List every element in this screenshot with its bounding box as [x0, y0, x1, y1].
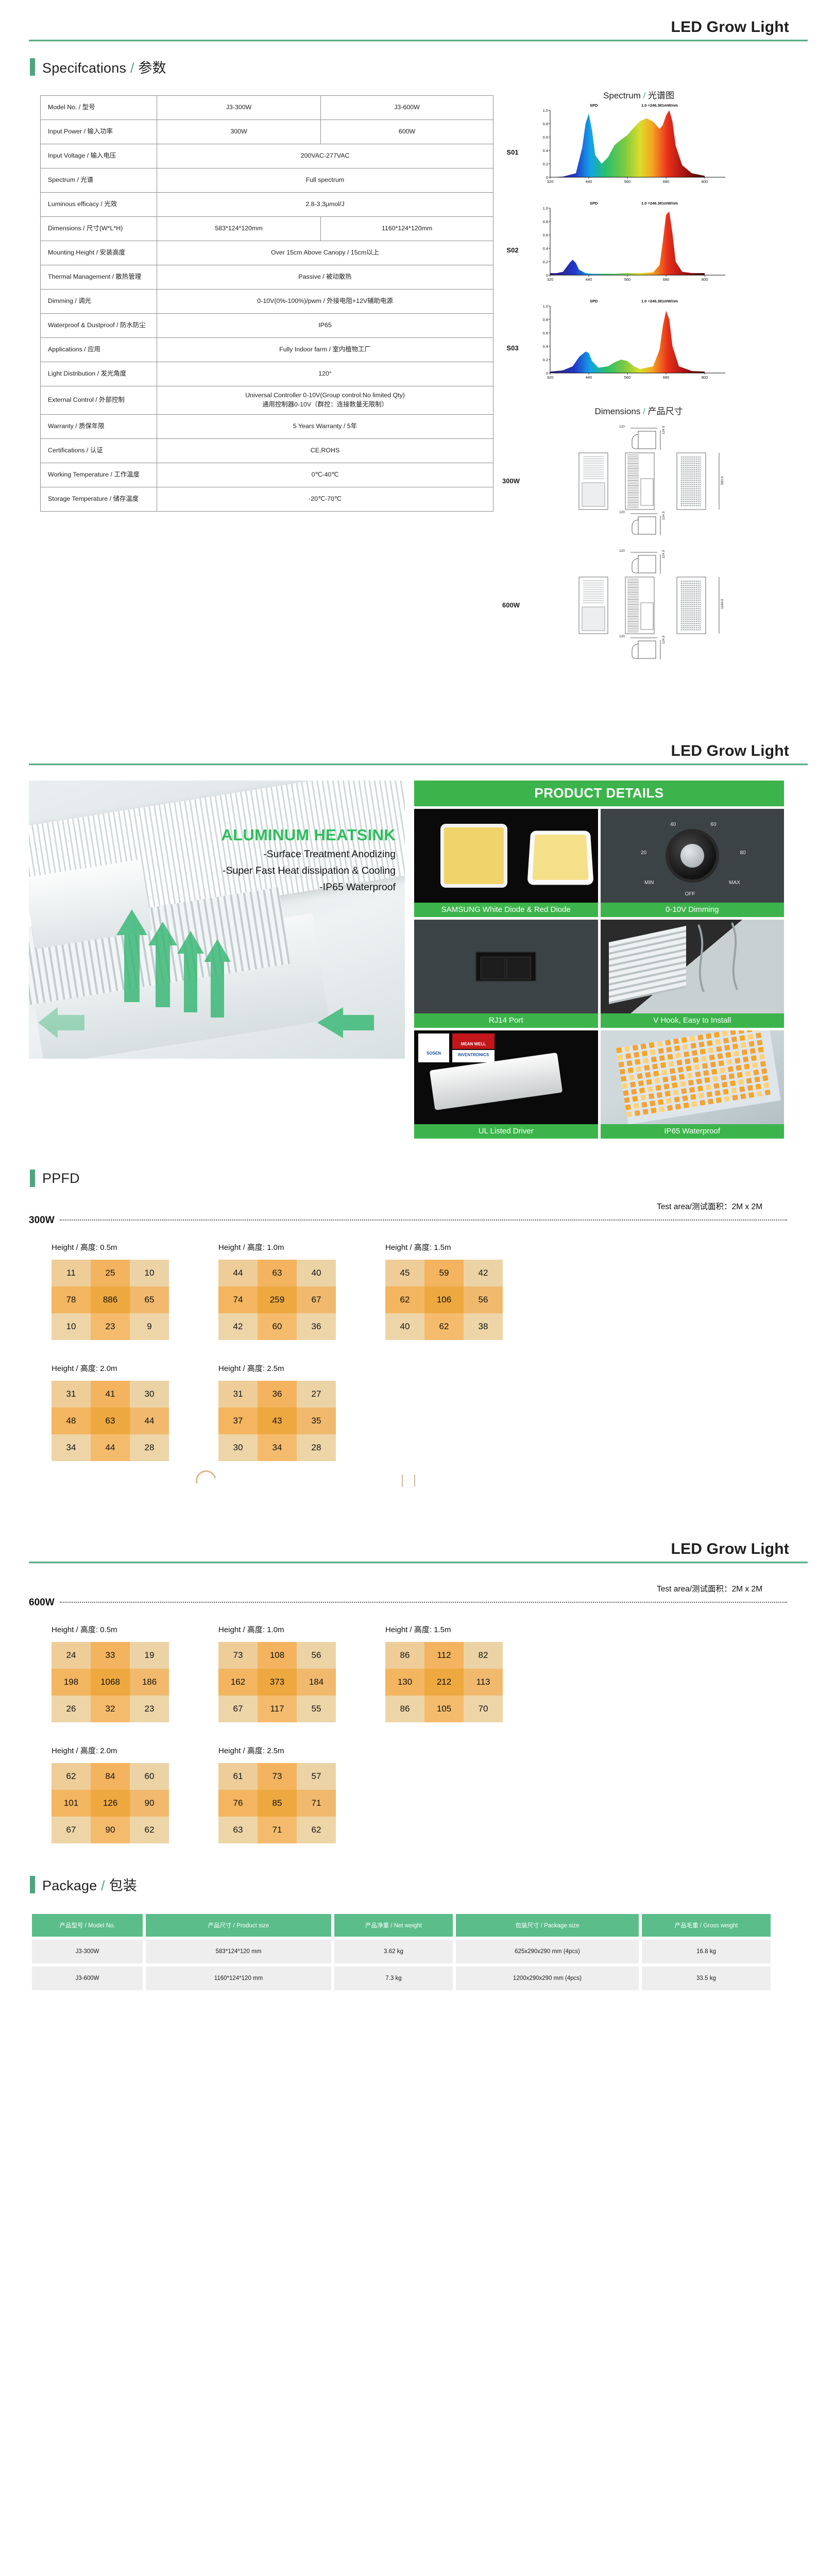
ppfd-cell: 28: [130, 1434, 169, 1461]
ppfd-heatmap-row: 446340: [218, 1260, 336, 1286]
ppfd-cell: 62: [424, 1313, 464, 1340]
led-dot: [659, 1055, 664, 1061]
spec-value: 200VAC-277VAC: [157, 144, 493, 168]
ppfd-cell: 70: [464, 1696, 503, 1722]
ppfd-cell: 67: [297, 1286, 336, 1313]
svg-text:1.0: 1.0: [543, 304, 548, 309]
spec-label: Dimming / 调光: [41, 290, 157, 314]
led-dot: [657, 1041, 662, 1046]
ppfd-grid-unit: Height / 高度: 0.5m112510788866510239: [52, 1242, 169, 1340]
led-dot: [714, 1090, 720, 1096]
led-dot: [698, 1042, 704, 1047]
led-dot: [706, 1091, 712, 1097]
product-detail-image-vhook: [601, 920, 785, 1013]
dimensions-title: Dimensions / 产品尺寸: [495, 404, 783, 417]
spec-row: Input Power / 输入功率300W600W: [41, 120, 493, 144]
led-dot: [691, 1101, 697, 1107]
led-dot: [641, 1050, 647, 1056]
knob-tick-label: OFF: [685, 891, 695, 897]
ppfd-cell: 212: [424, 1669, 464, 1696]
ppfd-cell: 56: [297, 1642, 336, 1669]
ppfd-grid-row: Height / 高度: 2.0m314130486344344428Heigh…: [0, 1363, 818, 1461]
ppfd-cell: 113: [464, 1669, 503, 1696]
svg-text:440: 440: [586, 375, 592, 380]
product-detail-image-waterproof: [601, 1030, 785, 1124]
spec-label: Mounting Height / 安装高度: [41, 241, 157, 265]
led-dot: [714, 1039, 720, 1045]
page-header-3: LED Grow Light: [0, 1522, 818, 1569]
product-detail-caption: 0-10V Dimming: [601, 903, 785, 917]
ppfd-cell: 30: [218, 1434, 258, 1461]
ppfd-cell: 86: [385, 1696, 424, 1722]
ppfd-cell: 186: [130, 1669, 169, 1696]
led-dot: [722, 1030, 727, 1036]
specifications-table: Model No. / 型号J3-300WJ3-600WInput Power …: [40, 95, 493, 512]
led-dot: [758, 1047, 763, 1053]
led-dot: [723, 1038, 728, 1043]
package-cell: 1160*124*120 mm: [146, 1967, 331, 1990]
led-dot: [640, 1043, 646, 1049]
spec-label: Dimensions / 尺寸(W*L*H): [41, 217, 157, 241]
spec-row: Light Distribution / 发光角度120°: [41, 362, 493, 386]
led-dot: [754, 1077, 760, 1082]
spectrum-chart-id: S02: [495, 246, 531, 254]
package-cell: 1200x290x290 mm (4pcs): [456, 1967, 639, 1990]
svg-text:124.0: 124.0: [662, 511, 666, 520]
led-dot: [645, 1072, 651, 1078]
led-dot: [657, 1099, 663, 1105]
dimension-model-label: 600W: [495, 601, 527, 609]
led-dot: [628, 1075, 634, 1080]
ppfd-heatmap-row: 162373184: [218, 1669, 336, 1696]
product-detail-caption: IP65 Waterproof: [601, 1124, 785, 1139]
ppfd-cell: 59: [424, 1260, 464, 1286]
spec-value: 0℃-40℃: [157, 463, 493, 487]
led-dot: [704, 1077, 710, 1083]
package-table: 产品型号 / Model No.产品尺寸 / Product size产品净重 …: [29, 1911, 774, 1993]
led-dot: [718, 1060, 724, 1066]
led-dot: [688, 1080, 693, 1086]
led-dot: [619, 1069, 625, 1074]
ppfd-cell: 65: [130, 1286, 169, 1313]
led-dot: [696, 1078, 702, 1084]
ppfd-cell: 61: [218, 1763, 258, 1790]
ppfd-cell: 259: [258, 1286, 297, 1313]
led-dot: [655, 1085, 661, 1091]
svg-text:560: 560: [624, 375, 631, 380]
ppfd-grid-title: Height / 高度: 2.0m: [52, 1745, 169, 1756]
spectrum-title-en: Spectrum: [603, 91, 641, 100]
ppfd-cell: 56: [464, 1286, 503, 1313]
led-dot: [678, 1074, 684, 1079]
spd-unit-label: 1.0 =246.381mW/nm: [641, 299, 678, 303]
spd-unit-label: 1.0 =246.381mW/nm: [641, 103, 678, 108]
ppfd-grid-unit: Height / 高度: 1.0m73108561623731846711755: [218, 1624, 336, 1722]
led-dot: [673, 1038, 678, 1044]
svg-text:320: 320: [547, 277, 554, 282]
heatsink-bullet-1: -Surface Treatment Anodizing: [263, 849, 396, 860]
spec-row: Certifications / 认证CE,ROHS: [41, 438, 493, 463]
ppfd-heatmap-row: 243319: [52, 1642, 169, 1669]
led-dot: [679, 1081, 685, 1087]
decorative-mark: [402, 1475, 415, 1487]
ppfd-cell: 28: [297, 1434, 336, 1461]
led-dot: [633, 1103, 639, 1109]
spec-value: Fully Indoor farm / 室内植物工厂: [157, 338, 493, 362]
led-dot: [651, 1108, 656, 1113]
led-dot: [753, 1070, 759, 1075]
led-dot: [755, 1083, 761, 1089]
led-dot: [697, 1035, 703, 1040]
ppfd-cell: 38: [464, 1313, 503, 1340]
ppfd-grid-row: Height / 高度: 0.5m2433191981068186263223H…: [0, 1624, 818, 1722]
svg-text:0.6: 0.6: [543, 233, 548, 238]
heading-cn: 参数: [138, 60, 166, 76]
spec-value-600w: 600W: [321, 120, 493, 144]
ppfd-heading-text: PPFD: [42, 1171, 80, 1187]
led-dot: [749, 1048, 755, 1054]
package-cell: J3-600W: [32, 1967, 143, 1990]
ppfd-cell: 62: [385, 1286, 424, 1313]
led-dot: [634, 1110, 640, 1116]
led-dot: [685, 1058, 690, 1064]
led-dot: [683, 1051, 689, 1057]
spec-value: CE,ROHS: [157, 438, 493, 463]
led-dot: [626, 1060, 632, 1066]
page-header-2: LED Grow Light: [0, 724, 818, 771]
ppfd-heatmap-row: 10239: [52, 1313, 169, 1340]
spectrum-title-cn: 光谱图: [648, 91, 674, 100]
led-dot: [729, 1080, 735, 1086]
svg-text:440: 440: [586, 277, 592, 282]
led-dot: [764, 1090, 770, 1095]
ppfd-group-600w: Test area/测试面积：2M x 2M600WHeight / 高度: 0…: [0, 1583, 818, 1843]
spec-value-300w: J3-300W: [157, 96, 321, 120]
ppfd-grid-title: Height / 高度: 1.0m: [218, 1624, 336, 1635]
ppfd-cell: 76: [218, 1790, 258, 1817]
led-dot: [640, 1095, 646, 1100]
svg-text:0.8: 0.8: [543, 122, 548, 126]
package-cell: 33.5 kg: [642, 1967, 771, 1990]
led-dot: [725, 1052, 731, 1058]
ppfd-grid-unit: Height / 高度: 2.0m62846010112690679062: [52, 1745, 169, 1843]
spec-value: Passive / 被动散热: [157, 265, 493, 290]
ppfd-cell: 42: [218, 1313, 258, 1340]
led-dot: [760, 1061, 765, 1066]
ppfd-grid-title: Height / 高度: 0.5m: [52, 1242, 169, 1252]
spd-label: SPD: [590, 201, 598, 206]
ppfd-heatmap-row: 617357: [218, 1763, 336, 1790]
led-board: [616, 1030, 781, 1124]
ppfd-heatmap-row: 628460: [52, 1763, 169, 1790]
svg-text:800: 800: [702, 277, 708, 282]
ppfd-cell: 44: [218, 1260, 258, 1286]
spec-value: Full spectrum: [157, 168, 493, 193]
product-details-panel: PRODUCT DETAILS SAMSUNG White Diode & Re…: [414, 781, 784, 1139]
ppfd-heatmap-table: 2433191981068186263223: [52, 1642, 169, 1722]
led-dot: [712, 1076, 718, 1081]
ppfd-heatmap-row: 6210656: [385, 1286, 503, 1313]
ppfd-heatmap-row: 8611282: [385, 1642, 503, 1669]
led-dot: [683, 1103, 689, 1108]
led-dot: [651, 1056, 656, 1062]
ppfd-cell: 10: [52, 1313, 91, 1340]
package-heading-text: Package / 包装: [42, 1874, 137, 1894]
ppfd-grid-title: Height / 高度: 1.5m: [385, 1624, 503, 1635]
led-dot: [738, 1079, 743, 1085]
spec-label: Input Voltage / 输入电压: [41, 144, 157, 168]
ppfd-grid-unit: Height / 高度: 1.0m4463407425967426036: [218, 1242, 336, 1340]
led-dot: [687, 1073, 692, 1078]
ppfd-cell: 86: [385, 1642, 424, 1669]
spec-label: Certifications / 认证: [41, 438, 157, 463]
led-dot: [746, 1078, 752, 1083]
heading-accent-bar-ppfd: [30, 1170, 35, 1187]
ppfd-cell: 67: [218, 1696, 258, 1722]
ppfd-test-area-label: Test area/测试面积：2M x 2M: [29, 1200, 787, 1212]
dimension-technical-drawing: 120124.01160.0120124.0: [527, 543, 783, 667]
led-dot: [755, 1032, 761, 1038]
ppfd-cell: 130: [385, 1669, 424, 1696]
led-dot: [627, 1067, 633, 1073]
ppfd-cell: 60: [258, 1313, 297, 1340]
package-column-header: 产品净重 / Net weight: [334, 1914, 453, 1937]
dimension-model-label: 300W: [495, 477, 527, 485]
ppfd-cell: 162: [218, 1669, 258, 1696]
product-detail-caption: UL Listed Driver: [414, 1124, 598, 1139]
ppfd-cell: 85: [258, 1790, 297, 1817]
spectrum-charts: S01SPD1.0 =246.381mW/nm1.00.80.60.40.203…: [495, 104, 783, 396]
spec-value: Over 15cm Above Canopy / 15cm以上: [157, 241, 493, 265]
spec-value-300w: 583*124*120mm: [157, 217, 321, 241]
product-detail-caption: RJ14 Port: [414, 1013, 598, 1028]
ppfd-cell: 84: [91, 1763, 130, 1790]
led-dot: [726, 1059, 732, 1065]
led-dot: [763, 1082, 769, 1088]
led-dot: [690, 1094, 696, 1099]
led-dot: [748, 1041, 754, 1046]
ppfd-cell: 48: [52, 1408, 91, 1434]
ppfd-heatmap-row: 768571: [218, 1790, 336, 1817]
spectrum-chart: SPD1.0 =246.381mW/nm1.00.80.60.40.203204…: [531, 104, 747, 200]
product-detail-image-rj14: [414, 920, 598, 1013]
waterproof-photo: [601, 1030, 785, 1124]
led-dot: [626, 1111, 632, 1117]
led-dot: [708, 1047, 713, 1053]
spec-label: Model No. / 型号: [41, 96, 157, 120]
package-column-header: 产品毛重 / Gross weight: [642, 1914, 771, 1937]
ppfd-grid-title: Height / 高度: 1.5m: [385, 1242, 503, 1252]
spectrum-chart: SPD1.0 =246.381mW/nm1.00.80.60.40.203204…: [531, 202, 747, 298]
heatsink-title: ALUMINUM HEATSINK: [221, 826, 396, 844]
ppfd-cell: 32: [91, 1696, 130, 1722]
ppfd-grid-unit: Height / 高度: 1.5m4559426210656406238: [385, 1242, 503, 1340]
ppfd-cell: 198: [52, 1669, 91, 1696]
led-dot: [658, 1048, 663, 1054]
led-dot: [724, 1096, 729, 1101]
led-dot: [659, 1106, 664, 1112]
led-dot: [727, 1066, 733, 1072]
product-detail-caption: SAMSUNG White Diode & Red Diode: [414, 903, 598, 917]
led-dot: [762, 1075, 768, 1081]
led-dot: [728, 1073, 734, 1079]
led-dot: [649, 1042, 654, 1048]
ppfd-cell: 9: [130, 1313, 169, 1340]
svg-text:120: 120: [619, 549, 625, 553]
led-dot: [740, 1093, 746, 1099]
ppfd-cell: 19: [130, 1642, 169, 1669]
header-rule: [29, 40, 808, 41]
ppfd-cell: 63: [258, 1260, 297, 1286]
led-dot: [716, 1046, 722, 1052]
led-dot: [720, 1075, 726, 1080]
led-dot: [741, 1049, 747, 1055]
ppfd-cell: 62: [130, 1817, 169, 1843]
spec-label: Waterproof & Dustproof / 防水防尘: [41, 314, 157, 338]
ppfd-heatmap-row: 314130: [52, 1381, 169, 1408]
package-cell: 7.3 kg: [334, 1967, 453, 1990]
knob-tick-label: 20: [641, 850, 646, 856]
ppfd-cell: 42: [464, 1260, 503, 1286]
ppfd-cell: 30: [130, 1381, 169, 1408]
led-dot: [686, 1065, 691, 1071]
page-specifications: LED Grow Light Specifcations / 参数 Model …: [0, 0, 818, 724]
led-dot: [702, 1063, 707, 1069]
ppfd-cell: 37: [218, 1408, 258, 1434]
ppfd-heatmap-table: 314130486344344428: [52, 1381, 169, 1461]
ppfd-heatmap-table: 617357768571637162: [218, 1763, 336, 1843]
led-dot: [674, 1096, 679, 1102]
svg-text:1160.0: 1160.0: [721, 599, 724, 609]
ppfd-test-area-label: Test area/测试面积：2M x 2M: [29, 1583, 787, 1594]
product-detail-image-knob: 20406080MINMAXOFF: [601, 809, 785, 903]
led-dot: [632, 1045, 638, 1050]
svg-text:0.2: 0.2: [543, 358, 548, 362]
spec-value: 5 Years Warranty / 5年: [157, 414, 493, 438]
ppfd-cell: 33: [91, 1642, 130, 1669]
svg-text:320: 320: [547, 179, 554, 184]
led-dot: [733, 1050, 739, 1056]
spec-label: Working Temperature / 工作温度: [41, 463, 157, 487]
led-dot: [732, 1095, 738, 1100]
ppfd-cell: 23: [91, 1313, 130, 1340]
knob-tick-label: MAX: [729, 880, 740, 886]
ppfd-cell: 35: [297, 1408, 336, 1434]
ppfd-cell: 55: [297, 1696, 336, 1722]
led-dot: [700, 1048, 705, 1054]
led-dot: [747, 1085, 753, 1091]
page-header: LED Grow Light: [0, 0, 818, 47]
heading-text: Specifcations / 参数: [42, 57, 166, 77]
knob-tick-label: 40: [670, 822, 676, 827]
product-details-banner: PRODUCT DETAILS: [414, 781, 784, 806]
led-dot: [751, 1055, 756, 1061]
ppfd-heatmap-row: 7425967: [218, 1286, 336, 1313]
package-column-header: 产品型号 / Model No.: [32, 1914, 143, 1937]
ppfd-cell: 184: [297, 1669, 336, 1696]
led-dot: [719, 1067, 725, 1073]
svg-text:0.4: 0.4: [543, 344, 548, 349]
spec-value-600w: J3-600W: [321, 96, 493, 120]
section-heading-ppfd: PPFD: [0, 1170, 818, 1187]
spec-row: Mounting Height / 安装高度Over 15cm Above Ca…: [41, 241, 493, 265]
ppfd-cell: 886: [91, 1286, 130, 1313]
product-detail-cell: 20406080MINMAXOFF0-10V Dimming: [601, 809, 785, 917]
ppfd-dashed-rule: [60, 1219, 787, 1221]
led-dot: [632, 1096, 638, 1101]
led-dot: [625, 1104, 630, 1110]
white-diode-icon: [444, 827, 504, 884]
spec-value: 0-10V(0%-100%)/pwm / 外接电阻+12V辅助电源: [157, 290, 493, 314]
ppfd-grid-unit: Height / 高度: 2.0m314130486344344428: [52, 1363, 169, 1461]
ppfd-heatmap-row: 344428: [52, 1434, 169, 1461]
ppfd-heatmap-table: 4559426210656406238: [385, 1260, 503, 1340]
spec-value: 120°: [157, 362, 493, 386]
led-dot: [631, 1089, 637, 1094]
led-dot: [653, 1071, 659, 1076]
led-dot: [676, 1060, 682, 1065]
ppfd-cell: 57: [297, 1763, 336, 1790]
led-dot: [638, 1080, 643, 1086]
led-dot: [722, 1082, 727, 1088]
led-dot: [759, 1054, 764, 1060]
svg-text:560: 560: [624, 277, 631, 282]
ppfd-cell: 60: [130, 1763, 169, 1790]
led-dot: [742, 1057, 748, 1062]
led-dot: [757, 1040, 762, 1045]
product-detail-cell: IP65 Waterproof: [601, 1030, 785, 1139]
led-dot: [682, 1095, 688, 1101]
spec-value: IP65: [157, 314, 493, 338]
led-dot: [724, 1045, 729, 1050]
ppfd-cell: 10: [130, 1260, 169, 1286]
led-dot: [644, 1065, 650, 1071]
led-dot: [642, 1058, 648, 1063]
inventronics-logo: INVENTRONICS: [452, 1050, 495, 1062]
rj14-port-icon: [475, 952, 536, 981]
dimension-drawings: 300W120124.0583.0120124.0600W120124.0116…: [495, 419, 783, 667]
svg-text:124.0: 124.0: [662, 550, 666, 558]
led-dot: [674, 1045, 679, 1051]
svg-text:680: 680: [663, 277, 670, 282]
led-dot: [745, 1071, 751, 1076]
ppfd-meta: Test area/测试面积：2M x 2M600W: [0, 1583, 818, 1608]
svg-text:124.0: 124.0: [662, 426, 666, 434]
led-dot: [731, 1088, 737, 1093]
led-dot: [746, 1030, 752, 1032]
led-dot: [692, 1057, 698, 1063]
spec-row: External Control / 外部控制Universal Control…: [41, 386, 493, 415]
led-dot: [739, 1035, 745, 1041]
ppfd-grid-title: Height / 高度: 0.5m: [52, 1624, 169, 1635]
sosen-logo: SOSEN: [418, 1033, 449, 1062]
svg-text:120: 120: [619, 511, 625, 514]
spec-row: Applications / 应用Fully Indoor farm / 室内植…: [41, 338, 493, 362]
spd-label: SPD: [590, 299, 598, 303]
svg-text:0.8: 0.8: [543, 317, 548, 322]
ppfd-wattage-label: 600W: [29, 1597, 55, 1608]
svg-text:0.2: 0.2: [543, 260, 548, 264]
ppfd-meta: Test area/测试面积：2M x 2M300W: [0, 1200, 818, 1226]
spec-label: Applications / 应用: [41, 338, 157, 362]
ppfd-heatmap-row: 112510: [52, 1260, 169, 1286]
led-dot: [622, 1083, 627, 1089]
ppfd-cell: 31: [52, 1381, 91, 1408]
page-title-2: LED Grow Light: [671, 742, 789, 760]
ppfd-cell: 36: [297, 1313, 336, 1340]
ppfd-heatmap-row: 313627: [218, 1381, 336, 1408]
led-dot: [617, 1055, 623, 1060]
